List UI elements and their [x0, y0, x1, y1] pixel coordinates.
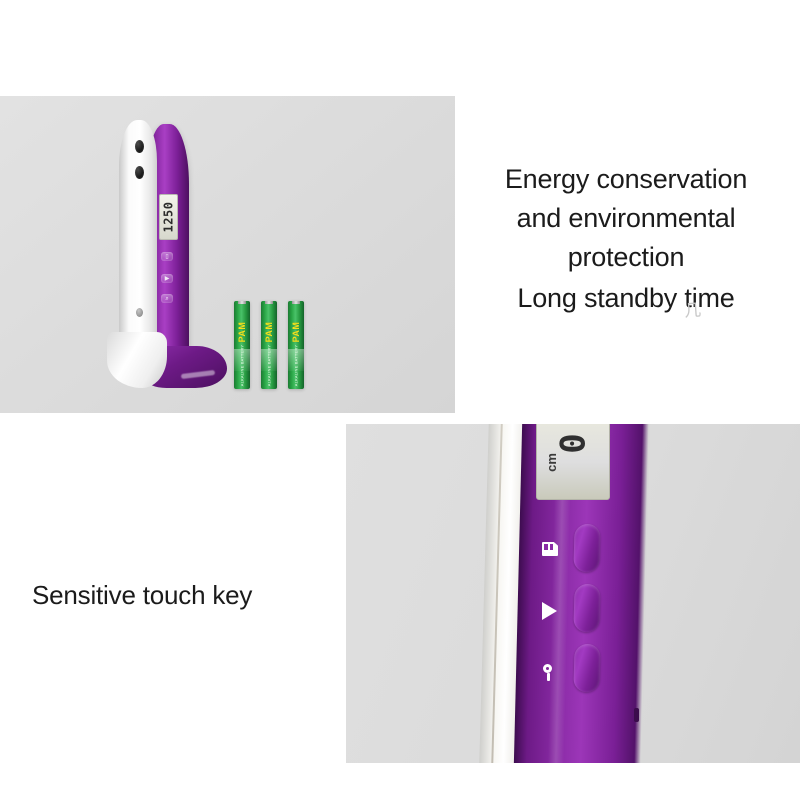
memory-card-icon: ▯: [165, 254, 168, 260]
device-play-button[interactable]: ▶: [161, 274, 173, 283]
headline-line-1: Energy conservation: [458, 160, 794, 199]
battery-item: PAM ALKALINE BATTERY: [234, 301, 250, 389]
closeup-memory-card-key[interactable]: [573, 524, 600, 572]
closeup-port-notch: [634, 708, 639, 722]
height-measuring-device: 1250 ▯ ▶ ⌕: [105, 114, 225, 404]
battery-group: PAM ALKALINE BATTERY PAM ALKALINE BATTER…: [234, 301, 320, 397]
closeup-measure-key[interactable]: [573, 644, 600, 692]
device-measure-button[interactable]: ⌕: [161, 294, 173, 303]
lcd-value: 1250: [162, 202, 176, 233]
battery-item: PAM ALKALINE BATTERY: [261, 301, 277, 389]
feature-caption-left: Sensitive touch key: [32, 578, 252, 612]
magnifier-icon: ⌕: [165, 296, 168, 302]
headline-line-2: and environmental: [458, 199, 794, 238]
closeup-play-key[interactable]: [573, 584, 600, 632]
device-memory-card-button[interactable]: ▯: [161, 252, 173, 261]
battery-terminal: [265, 301, 273, 304]
magnifier-icon: [542, 664, 560, 682]
closeup-lcd-screen: 0 cm: [536, 424, 610, 500]
battery-sub-label: ALKALINE BATTERY: [240, 345, 245, 387]
headline-line-4: Long standby time: [458, 279, 794, 318]
headline-line-3: protection: [458, 238, 794, 277]
closeup-lcd-digit: 0: [554, 432, 594, 453]
play-icon: [542, 602, 560, 620]
closeup-lcd-unit: cm: [544, 453, 559, 472]
battery-brand-label: PAM: [264, 322, 274, 343]
device-lcd-screen: 1250: [159, 194, 178, 240]
product-photo-top: 1250 ▯ ▶ ⌕ PAM ALKALINE BATTERY PAM ALKA…: [0, 96, 455, 413]
play-icon: ▶: [165, 276, 170, 282]
ultrasonic-sensor-icon: [135, 140, 144, 153]
battery-item: PAM ALKALINE BATTERY: [288, 301, 304, 389]
memory-card-icon: [542, 542, 560, 560]
battery-brand-label: PAM: [291, 322, 301, 343]
feature-text-block-right: Energy conservation and environmental pr…: [458, 160, 794, 318]
battery-terminal: [238, 301, 246, 304]
product-photo-closeup: 0 cm: [346, 424, 800, 763]
battery-terminal: [292, 301, 300, 304]
watermark-glyph: 几: [683, 295, 702, 321]
battery-brand-label: PAM: [237, 322, 247, 343]
device-white-base: [107, 332, 167, 388]
battery-sub-label: ALKALINE BATTERY: [267, 345, 272, 387]
ultrasonic-sensor-icon: [135, 166, 144, 179]
battery-sub-label: ALKALINE BATTERY: [294, 345, 299, 387]
indicator-dot-icon: [136, 308, 143, 317]
